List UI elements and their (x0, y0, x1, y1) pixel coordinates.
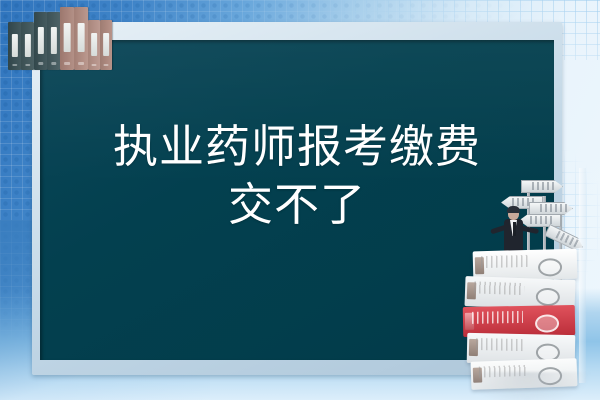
binder-2 (21, 22, 34, 70)
binder-label (24, 34, 30, 56)
binder-spine-lines (472, 311, 524, 324)
binder-stack (455, 250, 600, 400)
binder-stack-reflection (465, 372, 590, 400)
binder-7 (88, 20, 100, 70)
binder-label (50, 27, 56, 54)
binder-label (37, 27, 43, 54)
binder-label (91, 33, 97, 56)
binder-6 (74, 7, 88, 70)
binder-1 (8, 22, 21, 70)
binder-ring (51, 62, 56, 65)
binder-ring (12, 64, 17, 66)
sign-text-lines (532, 182, 557, 190)
binder-spine-lines (474, 282, 525, 296)
businessman-hair (507, 206, 520, 213)
direction-sign (521, 180, 563, 193)
businessman-illustration (455, 168, 600, 400)
binder-ring (103, 64, 108, 67)
binder-ring-hole (535, 288, 560, 307)
binder-label (64, 23, 71, 52)
binder-3 (34, 12, 47, 70)
binder-label (78, 23, 85, 52)
businessman-tie (513, 222, 516, 236)
binder-ring-hole (535, 314, 559, 332)
binder-ring (25, 64, 30, 66)
binder-ring (91, 64, 96, 67)
binder-ring (64, 62, 70, 65)
sign-text-lines (540, 204, 567, 212)
cover-image: 执业药师报考缴费 交不了 (0, 0, 600, 400)
binder-ring-hole (538, 258, 562, 277)
binder-label (11, 34, 17, 56)
binder-5 (60, 7, 74, 70)
binder-spine-lines (476, 338, 526, 351)
binder-8 (100, 20, 112, 70)
binder-4 (47, 12, 60, 70)
binder-label (103, 33, 109, 56)
binder-row (8, 2, 118, 70)
binder-ring (38, 62, 43, 65)
binder-ring (78, 62, 84, 65)
binder-spine-lines (481, 255, 529, 268)
